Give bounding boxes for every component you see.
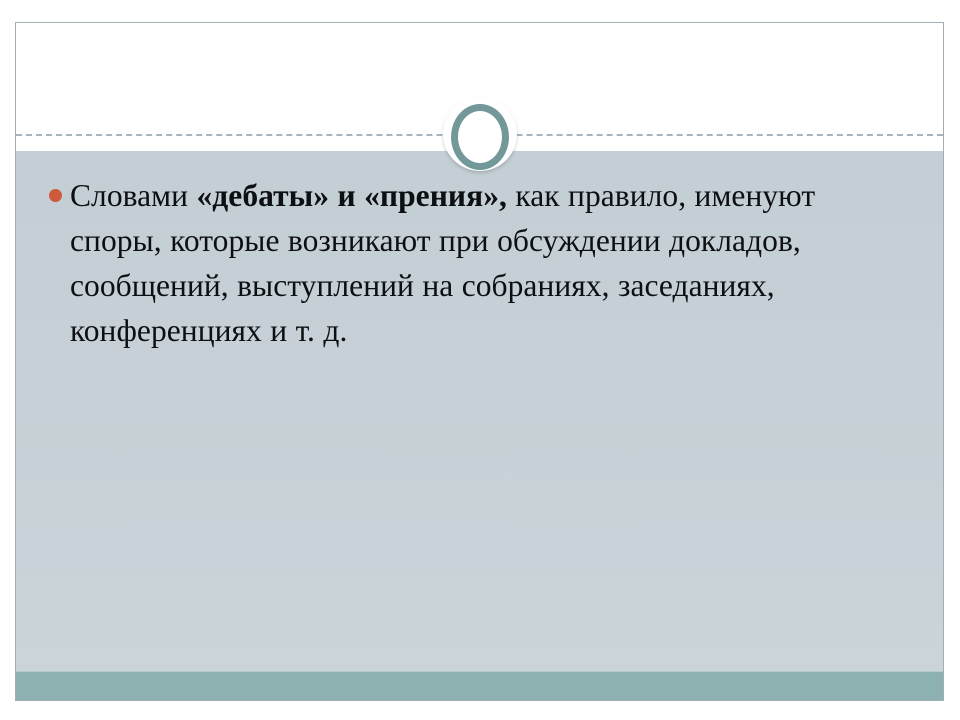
presentation-slide: Словами «дебаты» и «прения», как правило… [15, 22, 944, 701]
slide-body-zone: Словами «дебаты» и «прения», как правило… [16, 151, 943, 672]
bullet-text: Словами «дебаты» и «прения», как правило… [70, 173, 913, 353]
divider-dashed-line [16, 134, 943, 138]
slide-footer-band [16, 671, 943, 700]
bullet-dot-icon [49, 189, 62, 202]
slide-viewport: Словами «дебаты» и «прения», как правило… [0, 0, 960, 720]
list-item: Словами «дебаты» и «прения», как правило… [30, 173, 913, 353]
slide-title-zone [16, 23, 943, 134]
bullet-list: Словами «дебаты» и «прения», как правило… [30, 173, 913, 359]
